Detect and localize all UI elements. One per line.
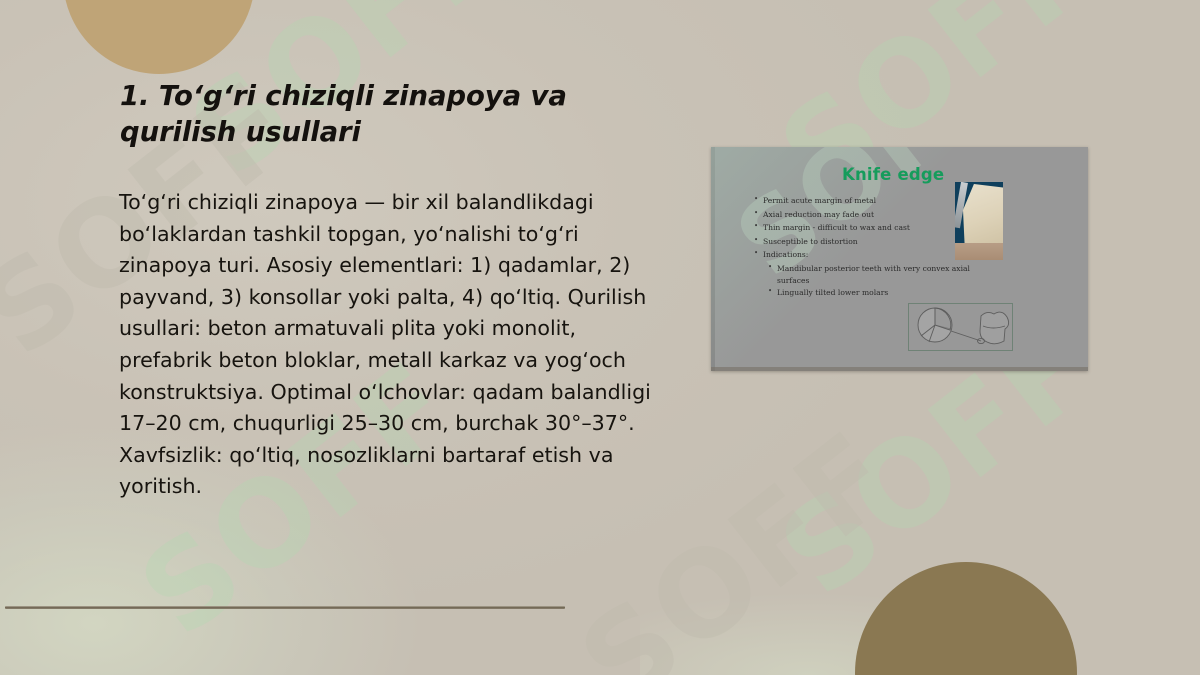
slide-body-text: To‘g‘ri chiziqli zinapoya — bir xil bala… [119, 187, 659, 503]
clinical-tooth-photo [955, 182, 1003, 260]
slide-left-edge [711, 147, 715, 371]
diagram-svg [909, 304, 1012, 350]
gum-shape [955, 243, 1003, 260]
slide-bottom-edge [711, 367, 1088, 371]
embedded-slide-image: SOFF Knife edge Permit acute margin of m… [711, 147, 1088, 371]
tooth-shape [963, 184, 1003, 246]
embedded-slide-sub-bullet-list: Mandibular posterior teeth with very con… [767, 263, 993, 300]
slide-content: 1. To‘g‘ri chiziqli zinapoya va qurilish… [0, 0, 1200, 675]
list-item: Lingually tilted lower molars [767, 287, 993, 299]
slide-title: 1. To‘g‘ri chiziqli zinapoya va qurilish… [120, 79, 640, 151]
tooth-cross-section-diagram [908, 303, 1013, 351]
list-item: Mandibular posterior teeth with very con… [767, 263, 993, 288]
embedded-slide-title: Knife edge [842, 165, 944, 184]
photo-frame [955, 182, 1003, 260]
footer-divider [5, 606, 565, 609]
